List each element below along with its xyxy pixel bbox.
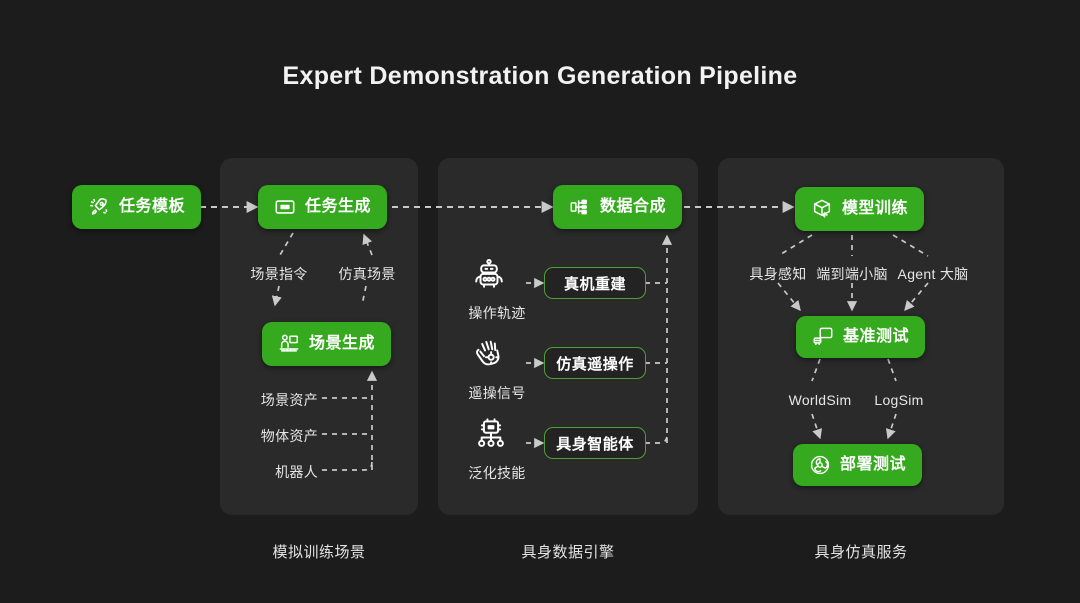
node-model-training[interactable]: 模型训练: [795, 187, 924, 231]
label-worldsim: WorldSim: [789, 392, 852, 408]
worker-scene-icon: [278, 333, 300, 355]
label-agent-brain: Agent 大脑: [898, 264, 969, 284]
node-task-generation[interactable]: 任务生成: [258, 185, 387, 229]
node-label: 任务生成: [305, 199, 371, 215]
label-operation-trajectory: 操作轨迹: [468, 303, 525, 323]
node-embodied-agent[interactable]: 具身智能体: [544, 427, 646, 459]
node-label: 部署测试: [840, 457, 906, 473]
deploy-gear-icon: [809, 454, 831, 476]
node-deployment-test[interactable]: 部署测试: [793, 444, 922, 486]
label-simulation-scene: 仿真场景: [338, 264, 395, 284]
node-label: 模型训练: [842, 201, 908, 217]
label-scene-instruction: 场景指令: [250, 264, 307, 284]
node-real-machine-reconstruction[interactable]: 真机重建: [544, 267, 646, 299]
label-generalization-skill: 泛化技能: [468, 463, 525, 483]
data-synth-icon: [569, 196, 591, 218]
node-data-synthesis[interactable]: 数据合成: [553, 185, 682, 229]
diagram-canvas: Expert Demonstration Generation Pipeline…: [0, 0, 1080, 603]
label-embodied-perception: 具身感知: [749, 264, 806, 284]
chip-net-icon: [474, 418, 508, 452]
label-end-to-end-cerebellum: 端到端小脑: [816, 264, 888, 284]
node-simulated-teleoperation[interactable]: 仿真遥操作: [544, 347, 646, 379]
robot-icon: [472, 258, 506, 292]
benchmark-screen-icon: [812, 326, 834, 348]
label-teleoperation-signal: 遥操信号: [468, 383, 525, 403]
label-logsim: LogSim: [874, 392, 923, 408]
node-task-template[interactable]: 任务模板: [72, 185, 201, 229]
cube-train-icon: [811, 198, 833, 220]
label-object-assets: 物体资产: [261, 426, 318, 446]
rocket-icon: [88, 196, 110, 218]
node-label: 任务模板: [119, 199, 185, 215]
node-label: 场景生成: [309, 336, 375, 352]
node-label: 数据合成: [600, 199, 666, 215]
label-scene-assets: 场景资产: [261, 390, 318, 410]
node-label: 基准测试: [843, 329, 909, 345]
node-scene-generation[interactable]: 场景生成: [262, 322, 391, 366]
connector-layer: [0, 0, 1080, 603]
pl-badge-icon: [274, 196, 296, 218]
node-benchmark-test[interactable]: 基准测试: [796, 316, 925, 358]
label-robot: 机器人: [275, 462, 318, 482]
glove-icon: [472, 338, 506, 372]
